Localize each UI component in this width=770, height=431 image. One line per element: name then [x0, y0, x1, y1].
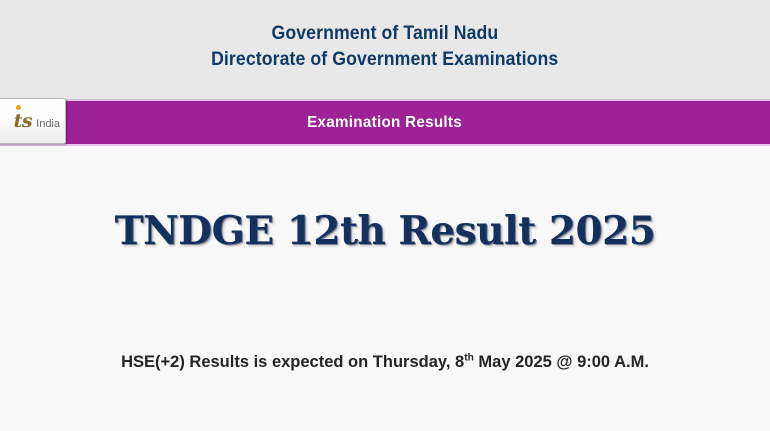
main-content: TNDGE 12th Result 2025 HSE(+2) Results i…: [0, 146, 770, 431]
page-title: TNDGE 12th Result 2025: [0, 212, 770, 251]
notice-text-suffix: May 2025 @ 9:00 A.M.: [474, 353, 649, 371]
examination-results-banner: Examination Results: [0, 99, 770, 146]
logo-brand-secondary: India: [36, 119, 60, 130]
government-name: Government of Tamil Nadu: [272, 21, 499, 47]
logo-mark: ts India: [14, 112, 60, 131]
page-root: Government of Tamil Nadu Directorate of …: [0, 0, 770, 431]
notice-ordinal-suffix: th: [464, 353, 474, 364]
logo-dot-icon: [16, 105, 21, 110]
site-logo[interactable]: ts India: [0, 98, 66, 144]
government-header: Government of Tamil Nadu Directorate of …: [0, 0, 770, 99]
examination-results-label: Examination Results: [308, 114, 463, 132]
result-date-notice: HSE(+2) Results is expected on Thursday,…: [0, 353, 770, 372]
logo-brand-primary: ts: [14, 112, 32, 131]
directorate-name: Directorate of Government Examinations: [211, 47, 558, 73]
notice-text-prefix: HSE(+2) Results is expected on Thursday,…: [121, 353, 464, 371]
